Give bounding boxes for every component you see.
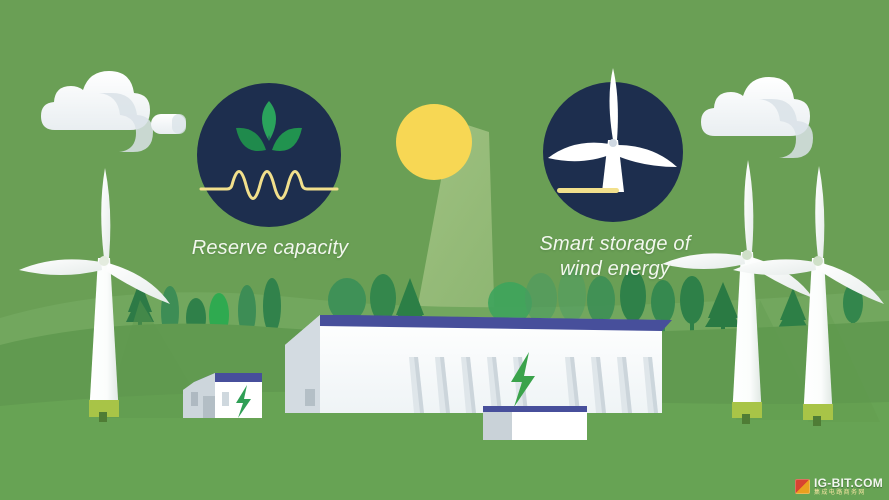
badge-label-reserve-capacity: Reserve capacity [170, 236, 370, 261]
scene-graphic [0, 0, 889, 500]
watermark-text: IG-BIT.COM 集成电路商务网 [814, 477, 883, 496]
storage-warehouse [285, 315, 672, 413]
illustration-canvas: Reserve capacity Smart storage of wind e… [0, 0, 889, 500]
cloud-small-icon-left [151, 114, 186, 134]
watermark-title: IG-BIT.COM [814, 477, 883, 489]
sun-icon [396, 104, 472, 180]
badge-label-smart-storage: Smart storage of wind energy [520, 232, 710, 282]
watermark: IG-BIT.COM 集成电路商务网 [795, 477, 883, 496]
substation-building [483, 406, 587, 440]
badge-reserve-capacity[interactable] [197, 83, 341, 227]
ig-bit-logo-icon [795, 479, 810, 494]
watermark-subtitle: 集成电路商务网 [814, 490, 883, 496]
